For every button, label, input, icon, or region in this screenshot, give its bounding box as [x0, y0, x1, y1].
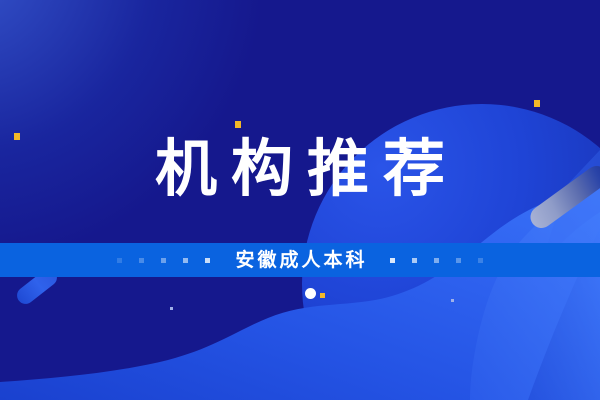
yellow-dot-center-top	[235, 121, 241, 128]
yellow-dot-near-white	[320, 293, 325, 298]
page-title: 机构推荐	[0, 138, 600, 200]
diagonal-band-mid	[0, 0, 13, 400]
promo-poster: 机构推荐 安徽成人本科	[0, 0, 600, 400]
banner-dots-right	[390, 258, 483, 263]
subtitle-text: 安徽成人本科	[210, 251, 389, 270]
yellow-dot-right-top	[534, 100, 540, 107]
pale-dot-bottom-left	[170, 307, 173, 310]
banner-dots-left	[117, 258, 210, 263]
subtitle-banner: 安徽成人本科	[0, 243, 600, 277]
corner-glow	[0, 0, 260, 260]
white-dot-bottom	[305, 288, 316, 299]
pale-dot-bottom-mid	[451, 299, 454, 302]
